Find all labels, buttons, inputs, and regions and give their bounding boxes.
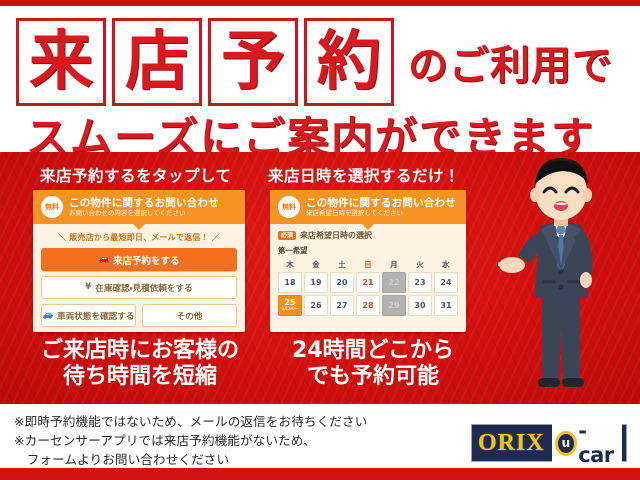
calendar-day-number: 30 <box>414 302 425 310</box>
calendar-day-cell[interactable]: 23 <box>408 272 432 293</box>
weekday-header: 月 <box>382 259 406 272</box>
red-feature-block: 来店予約するをタップして 来店日時を選択するだけ！ 無料 この物件に関するお問い… <box>0 152 640 404</box>
calendar-day-cell[interactable]: 19 <box>304 272 328 293</box>
stock-quote-button[interactable]: ¥ 在庫確認・見積依頼をする <box>41 276 237 299</box>
headline-kanji-box-3: 予 <box>208 18 298 106</box>
calendar-section-title: 来店希望日時の選択 <box>300 230 372 241</box>
other-label: その他 <box>177 310 203 322</box>
left-benefit-line-1: ご来店時にお客様の <box>18 338 262 364</box>
headline-kanji-box-1: 来 <box>16 18 106 106</box>
calendar-preference-label: 第一希望 <box>278 245 458 256</box>
car-front-icon: 🚙 <box>43 311 54 320</box>
calendar-day-cell[interactable]: 30 <box>408 295 432 316</box>
top-accent-strip <box>0 0 640 6</box>
calendar-day-number: 26 <box>310 302 321 310</box>
calendar-day-cell: 29 <box>382 295 406 316</box>
calendar-day-number: 22 <box>388 279 399 287</box>
calendar-day-cell[interactable]: 18 <box>278 272 302 293</box>
headline-tail-text: のご利用で <box>408 33 613 91</box>
check-condition-label: 車両状態を確認する <box>57 310 134 322</box>
calendar-day-number: 29 <box>388 302 399 310</box>
weekday-header: 火 <box>408 259 432 272</box>
weekday-header: 金 <box>304 259 328 272</box>
calendar-day-number: 24 <box>440 279 451 287</box>
inquiry-header-subtitle: お問い合わせの内容を選択してください <box>69 210 219 217</box>
calendar-body: 必須 来店希望日時の選択 第一希望 木 金 土 日 月 火 水 18192021… <box>270 224 466 316</box>
check-condition-button[interactable]: 🚙 車両状態を確認する <box>41 304 136 327</box>
left-benefit-line-2: 待ち時間を短縮 <box>18 364 262 390</box>
headline-kanji-box-4: 約 <box>304 18 394 106</box>
calendar-day-cell[interactable]: 31 <box>434 295 458 316</box>
weekday-header: 木 <box>278 259 302 272</box>
advertisement-poster: 来 店 予 約 のご利用で スムーズにご案内ができます 来店予約するをタップして… <box>0 0 640 480</box>
reserve-visit-label: 来店予約をする <box>113 253 180 267</box>
right-benefit-text: 24時間どこから でも予約可能 <box>262 338 484 390</box>
free-badge: 無料 <box>278 196 300 218</box>
ucar-text: -car <box>578 419 616 467</box>
bottom-accent-strip <box>0 468 640 480</box>
weekday-header: 水 <box>434 259 458 272</box>
free-badge: 無料 <box>41 196 63 218</box>
weekday-header: 土 <box>330 259 354 272</box>
secondary-button-row: 🚙 車両状態を確認する その他 <box>41 304 237 327</box>
calendar-day-grid: 181920212223242514:00~262728293031 <box>278 272 458 316</box>
calendar-day-cell: 22 <box>382 272 406 293</box>
inquiry-form-card: 無料 この物件に関するお問い合わせ お問い合わせの内容を選択してください ＼ 販… <box>33 190 245 332</box>
headline-section: 来 店 予 約 のご利用で スムーズにご案内ができます <box>0 8 640 152</box>
calendar-card: 無料 この物件に関するお問い合わせ 来店希望日時を選択してください 必須 来店希… <box>270 190 466 332</box>
salesman-illustration <box>498 154 624 402</box>
orix-brand-text: ORIX <box>478 430 545 457</box>
calendar-section-title-row: 必須 来店希望日時の選択 <box>278 230 458 241</box>
headline-line-1: 来 店 予 約 のご利用で <box>16 18 613 106</box>
inquiry-header-title: この物件に関するお問い合わせ <box>69 197 219 209</box>
required-tag: 必須 <box>278 231 296 240</box>
u-circle-icon: u <box>555 431 578 456</box>
calendar-header-subtitle: 来店希望日時を選択してください <box>306 210 456 217</box>
right-panel-caption: 来店日時を選択するだけ！ <box>268 164 460 186</box>
calendar-day-number: 20 <box>336 279 347 287</box>
car-icon: 🚗 <box>98 255 109 264</box>
calendar-day-cell[interactable]: 24 <box>434 272 458 293</box>
right-benefit-line-2: でも予約可能 <box>262 364 484 390</box>
calendar-day-number: 21 <box>362 279 373 287</box>
stock-quote-label: 在庫確認・見積依頼をする <box>95 282 192 294</box>
calendar-day-time: 14:00~ <box>281 308 298 313</box>
left-benefit-text: ご来店時にお客様の 待ち時間を短縮 <box>18 338 262 390</box>
calendar-day-cell[interactable]: 28 <box>356 295 380 316</box>
weekday-header: 日 <box>356 259 380 272</box>
calendar-card-header: 無料 この物件に関するお問い合わせ 来店希望日時を選択してください <box>270 190 466 224</box>
calendar-day-number: 18 <box>284 279 295 287</box>
orix-ucar-logo: ORIX u -car <box>471 424 627 462</box>
other-button[interactable]: その他 <box>142 304 237 327</box>
right-benefit-line-1: 24時間どこから <box>262 338 484 364</box>
calendar-day-number: 23 <box>414 279 425 287</box>
inquiry-card-header: 無料 この物件に関するお問い合わせ お問い合わせの内容を選択してください <box>33 190 245 224</box>
disclaimer-notes: ※即時予約機能ではないため、メールの返信をお待ちください ※カーセンサーアプリで… <box>14 412 367 469</box>
calendar-day-number: 31 <box>440 302 451 310</box>
calendar-weekday-row: 木 金 土 日 月 火 水 <box>278 259 458 272</box>
calendar-day-cell[interactable]: 2514:00~ <box>278 295 302 316</box>
ucar-badge: u -car <box>552 417 622 469</box>
calendar-day-number: 27 <box>336 302 347 310</box>
calendar-header-title: この物件に関するお問い合わせ <box>306 197 456 209</box>
calendar-day-number: 19 <box>310 279 321 287</box>
reserve-visit-button[interactable]: 🚗 来店予約をする <box>41 248 237 271</box>
calendar-day-cell[interactable]: 26 <box>304 295 328 316</box>
yen-icon: ¥ <box>85 283 91 292</box>
left-panel-caption: 来店予約するをタップして <box>40 164 232 186</box>
calendar-day-cell[interactable]: 27 <box>330 295 354 316</box>
calendar-day-number: 28 <box>362 302 373 310</box>
headline-kanji-box-2: 店 <box>112 18 202 106</box>
calendar-day-cell[interactable]: 20 <box>330 272 354 293</box>
calendar-day-number: 25 <box>284 299 295 307</box>
calendar-day-cell[interactable]: 21 <box>356 272 380 293</box>
